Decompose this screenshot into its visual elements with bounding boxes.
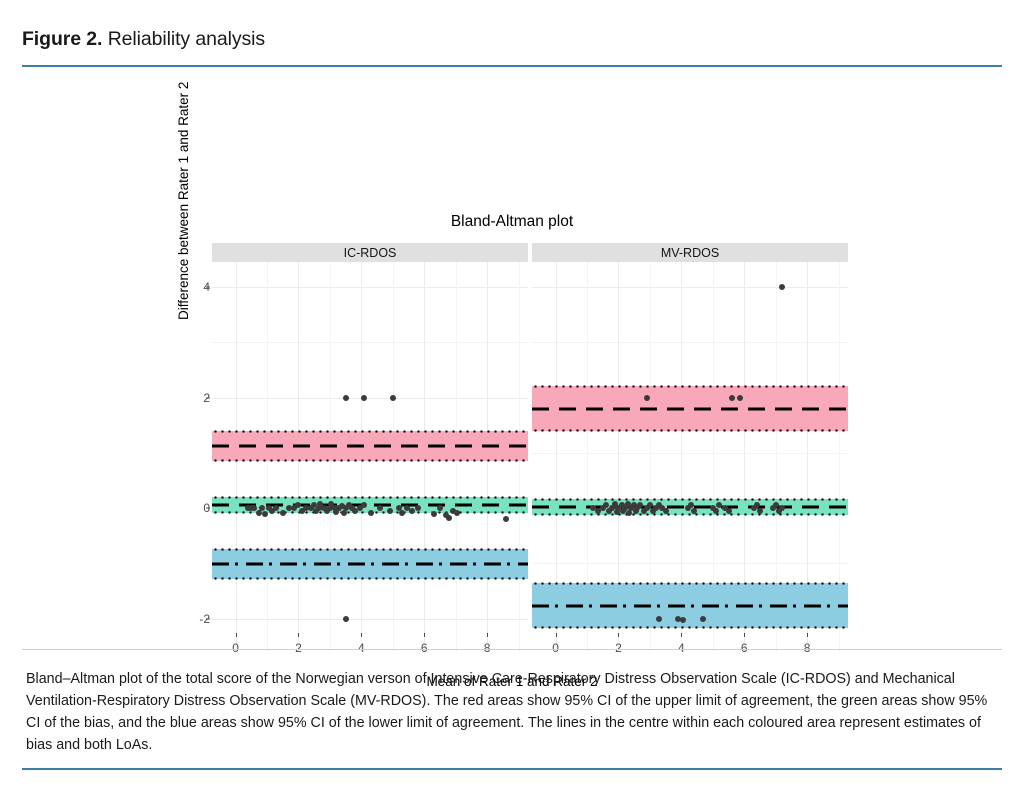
- data-point: [454, 510, 460, 516]
- data-point: [361, 395, 367, 401]
- x-tick-label: 4: [358, 641, 365, 655]
- ci-band-lower-loa: [212, 549, 528, 579]
- figure-heading: Figure 2. Reliability analysis: [22, 28, 1002, 51]
- panel-strip-label: IC-RDOS: [212, 243, 528, 262]
- y-tick-mark: [206, 286, 210, 287]
- ci-band-upper-edge: [532, 582, 848, 585]
- data-point: [431, 511, 437, 517]
- ci-band-estimate-line: [212, 563, 528, 566]
- footer-divider: [22, 768, 1002, 770]
- ci-band-lower-edge: [532, 513, 848, 516]
- ci-band-lower-edge: [212, 577, 528, 580]
- y-axis-ticks: -2024: [170, 67, 210, 627]
- ci-band-upper-edge: [212, 496, 528, 499]
- ci-band-lower-edge: [212, 459, 528, 462]
- x-axis: 02468: [532, 633, 848, 661]
- x-tick-mark: [807, 633, 808, 637]
- data-point: [446, 515, 452, 521]
- ci-band-upper-edge: [212, 430, 528, 433]
- data-point: [343, 616, 349, 622]
- x-tick-label: 6: [741, 641, 748, 655]
- ci-band-lower-loa: [532, 583, 848, 627]
- y-tick-mark: [206, 397, 210, 398]
- x-tick-label: 0: [552, 641, 559, 655]
- gridline-horizontal: [212, 398, 528, 399]
- figure-caption: Bland–Altman plot of the total score of …: [26, 668, 998, 757]
- x-tick-label: 2: [295, 641, 302, 655]
- gridline-horizontal: [532, 287, 848, 288]
- x-tick-label: 6: [421, 641, 428, 655]
- figure-title: Reliability analysis: [108, 28, 265, 50]
- ci-band-estimate-line: [532, 604, 848, 607]
- gridline-horizontal: [212, 619, 528, 620]
- x-tick-mark: [681, 633, 682, 637]
- gridline-horizontal: [212, 287, 528, 288]
- gridline-horizontal-minor: [532, 453, 848, 454]
- ci-band-lower-edge: [532, 429, 848, 432]
- data-point: [691, 508, 697, 514]
- data-point: [399, 510, 405, 516]
- data-point: [503, 516, 509, 522]
- data-point: [644, 395, 650, 401]
- x-tick-mark: [298, 633, 299, 637]
- data-point: [409, 508, 415, 514]
- data-point: [737, 395, 743, 401]
- y-tick-mark: [206, 618, 210, 619]
- ci-band-lower-edge: [532, 626, 848, 629]
- ci-band-estimate-line: [212, 444, 528, 447]
- ci-band-upper-edge: [532, 498, 848, 501]
- panel-strip-label: MV-RDOS: [532, 243, 848, 262]
- chart-panel: MV-RDOS02468: [532, 243, 848, 652]
- y-tick-mark: [206, 508, 210, 509]
- ci-band-upper-edge: [532, 385, 848, 388]
- x-tick-label: 2: [615, 641, 622, 655]
- x-tick-mark: [556, 633, 557, 637]
- data-point: [757, 508, 763, 514]
- data-point: [680, 617, 686, 623]
- data-point: [387, 508, 393, 514]
- gridline-horizontal-minor: [532, 563, 848, 564]
- ci-band-upper-edge: [212, 548, 528, 551]
- gridline-horizontal-minor: [212, 342, 528, 343]
- x-tick-label: 0: [232, 641, 239, 655]
- x-tick-mark: [236, 633, 237, 637]
- figure-body: Bland-Altman plot Difference between Rat…: [0, 67, 1024, 627]
- x-axis: 02468: [212, 633, 528, 661]
- figure-header: Figure 2. Reliability analysis: [0, 0, 1024, 51]
- x-tick-label: 8: [484, 641, 491, 655]
- data-point: [729, 395, 735, 401]
- x-tick-mark: [618, 633, 619, 637]
- gridline-horizontal-minor: [532, 342, 848, 343]
- x-tick-label: 8: [804, 641, 811, 655]
- data-point: [779, 284, 785, 290]
- figure-label: Figure 2.: [22, 28, 102, 50]
- data-point: [343, 395, 349, 401]
- x-tick-label: 4: [678, 641, 685, 655]
- ci-band-estimate-line: [532, 407, 848, 410]
- x-tick-mark: [487, 633, 488, 637]
- data-point: [280, 510, 286, 516]
- ci-band-upper-loa: [212, 431, 528, 461]
- chart-title: Bland-Altman plot: [0, 213, 1024, 231]
- panel-plot-area: [532, 262, 848, 652]
- x-tick-mark: [744, 633, 745, 637]
- x-tick-mark: [361, 633, 362, 637]
- data-point: [368, 510, 374, 516]
- x-tick-mark: [424, 633, 425, 637]
- data-point: [754, 502, 760, 508]
- data-point: [688, 502, 694, 508]
- ci-band-upper-loa: [532, 386, 848, 430]
- panel-plot-area: [212, 262, 528, 652]
- chart-panel: IC-RDOS02468: [212, 243, 528, 652]
- data-point: [726, 508, 732, 514]
- caption-divider: [22, 649, 1002, 650]
- data-point: [390, 395, 396, 401]
